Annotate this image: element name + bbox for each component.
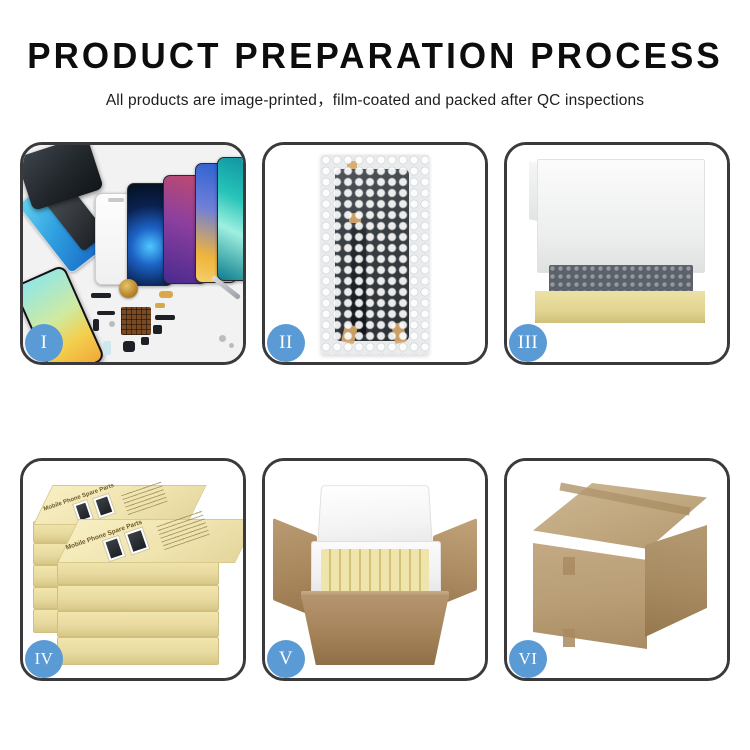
- step-badge-1: I: [25, 324, 63, 362]
- process-step-4: Mobile Phone Spare Parts Mobile Phone Sp…: [20, 458, 246, 681]
- part-ic-2: [141, 337, 149, 345]
- part-cable-3: [155, 315, 175, 320]
- part-camera-lens-icon: [103, 341, 111, 355]
- process-grid: I II: [20, 142, 730, 681]
- process-step-5: V: [262, 458, 488, 681]
- part-ic-1: [153, 325, 162, 334]
- part-connector-1: [91, 293, 111, 298]
- step-badge-4: IV: [25, 640, 63, 678]
- copper-coil-icon: [119, 279, 138, 298]
- bubble-wrapped-contents-icon: [549, 265, 693, 293]
- part-gold-flex-2: [155, 303, 165, 308]
- page-title: PRODUCT PREPARATION PROCESS: [11, 38, 739, 74]
- process-step-2: II: [262, 142, 488, 365]
- part-screw-2: [219, 335, 226, 342]
- bubble-texture: [321, 155, 429, 355]
- carton-tape-tab-bottom: [563, 629, 575, 647]
- chip-grid-icon: [121, 307, 151, 335]
- part-cable-1: [97, 311, 115, 315]
- bubble-wrap-bag-icon: [321, 155, 429, 355]
- step-badge-3: III: [509, 324, 547, 362]
- step-badge-2: II: [267, 324, 305, 362]
- white-foam-liner-icon: [537, 159, 705, 273]
- part-cable-2: [93, 319, 99, 331]
- carton-body-icon: [301, 595, 449, 665]
- part-speaker-icon: [123, 341, 135, 352]
- page-subtitle: All products are image-printed，film-coat…: [0, 88, 750, 110]
- part-gold-flex-1: [159, 291, 173, 298]
- carton-front-face: [533, 543, 647, 649]
- kraft-box-tray-icon: [535, 291, 705, 323]
- step-badge-6: VI: [509, 640, 547, 678]
- stacked-box-fr-4: [57, 637, 219, 665]
- yellow-retail-boxes-icon: [321, 549, 429, 591]
- page-header: PRODUCT PREPARATION PROCESS All products…: [0, 0, 750, 110]
- part-screw-3: [229, 343, 234, 348]
- process-step-6: VI: [504, 458, 730, 681]
- part-screw-1: [109, 321, 115, 327]
- phone-back-housing-icon: [23, 145, 104, 211]
- phone-teal-icon: [217, 157, 243, 281]
- carton-tape-tab-top: [563, 557, 575, 575]
- process-step-3: III: [504, 142, 730, 365]
- step-badge-5: V: [267, 640, 305, 678]
- stacked-box-fr-2: [57, 585, 219, 611]
- stacked-box-fr-3: [57, 611, 219, 637]
- process-step-1: I: [20, 142, 246, 365]
